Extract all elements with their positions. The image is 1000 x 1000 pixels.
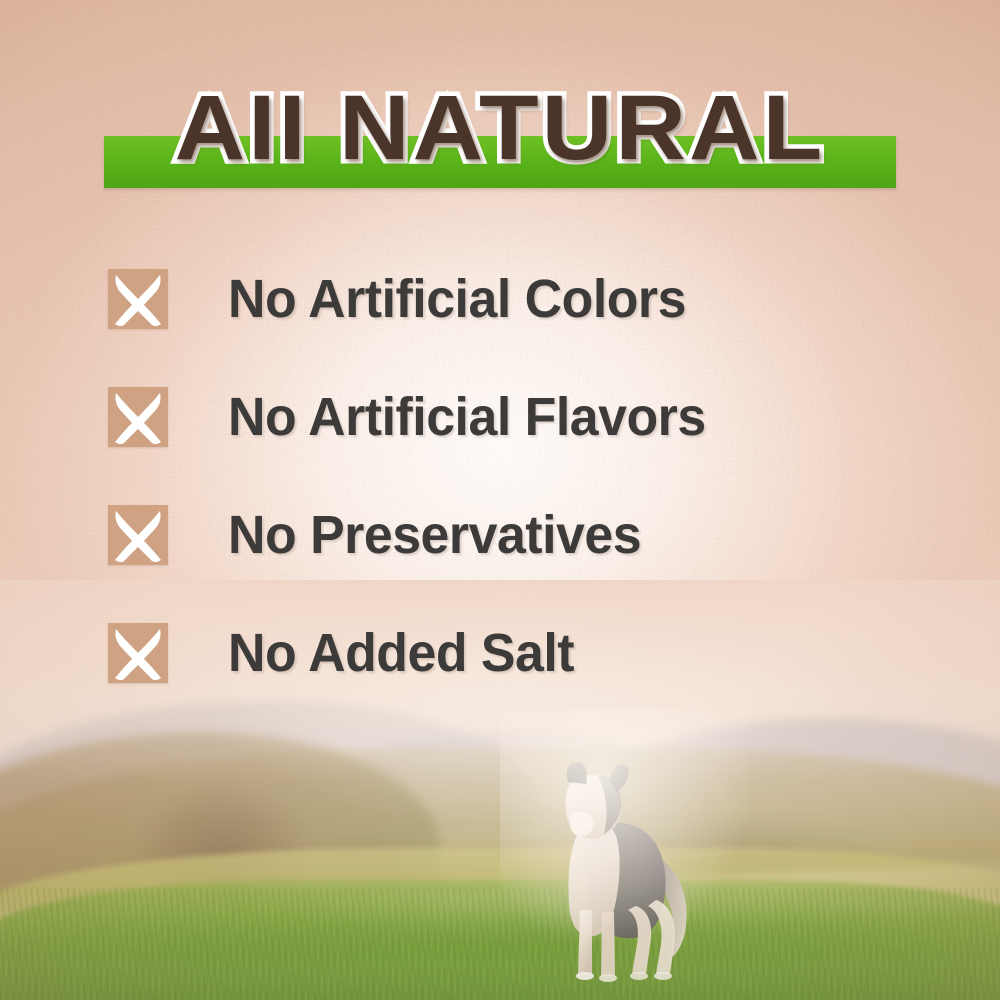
list-item: No Artificial Flavors: [108, 372, 908, 462]
checkbox-no-artificial-flavors: [108, 387, 168, 447]
list-item: No Artificial Colors: [108, 254, 908, 344]
all-natural-poster: AII NATURAL No Artificial Colors No Arti…: [0, 0, 1000, 1000]
list-item: No Preservatives: [108, 490, 908, 580]
list-item: No Added Salt: [108, 608, 908, 698]
claims-list: No Artificial Colors No Artificial Flavo…: [108, 254, 908, 698]
claim-label: No Artificial Flavors: [228, 387, 706, 447]
checkbox-no-added-salt: [108, 623, 168, 683]
claim-label: No Artificial Colors: [228, 269, 686, 329]
x-mark-icon: [101, 380, 175, 454]
x-mark-icon: [101, 498, 175, 572]
title-banner: AII NATURAL: [0, 78, 1000, 194]
page-title: AII NATURAL: [0, 78, 1000, 178]
border-collie-dog: [528, 760, 718, 992]
checkbox-no-artificial-colors: [108, 269, 168, 329]
x-mark-icon: [101, 616, 175, 690]
x-mark-icon: [101, 262, 175, 336]
claim-label: No Preservatives: [228, 505, 641, 565]
grass-blade-texture: [0, 888, 1000, 1000]
checkbox-no-preservatives: [108, 505, 168, 565]
claim-label: No Added Salt: [228, 623, 574, 683]
